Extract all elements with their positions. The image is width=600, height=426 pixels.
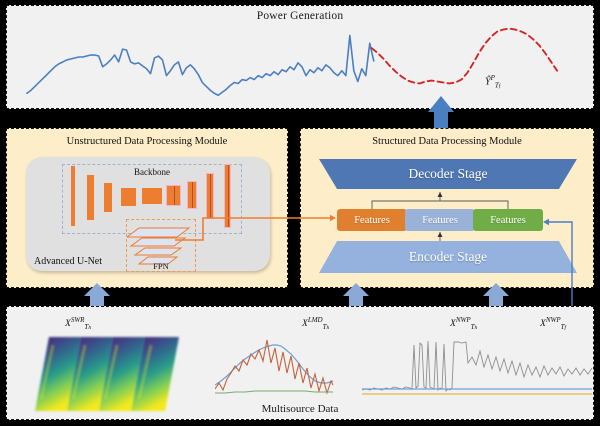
input-label-lmd: XLMDTh	[302, 316, 329, 331]
yhat-sub2: f	[499, 83, 501, 89]
backbone-block-1	[71, 166, 75, 226]
advanced-unet-card: Backbone FPN Advanced U-Net	[26, 157, 270, 271]
advanced-unet-label: Advanced U-Net	[34, 256, 102, 267]
unstructured-data-processing-module: Unstructured Data Processing Module Back…	[6, 128, 288, 288]
backbone-block-3	[104, 183, 112, 212]
fpn-box: FPN	[126, 219, 196, 272]
xnwph-sup: NWP	[456, 316, 471, 324]
swr-heatmap-stack	[29, 329, 209, 417]
backbone-block-8	[206, 173, 214, 219]
xnwph-sub2: h	[475, 325, 478, 331]
backbone-block-2	[87, 175, 94, 220]
backbone-block-6	[166, 185, 181, 206]
multisource-data-panel: Multisource Data XSWRTh XLMDTh XNWPTh XN…	[6, 306, 594, 420]
xlmd-sub2: h	[327, 325, 330, 331]
lmd-line-plot	[215, 333, 335, 399]
power-generation-panel: Power Generation ŶPTf	[6, 5, 594, 109]
backbone-block-9	[224, 164, 231, 228]
history-series	[27, 35, 374, 95]
xswr-sup: SWR	[71, 316, 85, 324]
xlmd-sup: LMD	[308, 316, 323, 324]
backbone-block-7	[187, 181, 197, 209]
prediction-label: ŶPTf	[485, 74, 500, 89]
unstructured-module-title: Unstructured Data Processing Module	[7, 136, 287, 147]
backbone-block-4	[121, 188, 136, 206]
input-label-nwp-h: XNWPTh	[450, 316, 477, 331]
fpn-label: FPN	[127, 261, 195, 271]
xnwpf-sub2: f	[565, 325, 567, 331]
forecast-series	[372, 29, 557, 84]
nwp-line-plot	[362, 333, 592, 399]
structured-data-processing-module: Structured Data Processing Module Decode…	[300, 128, 594, 288]
xnwpf-sup: NWP	[546, 316, 561, 324]
structured-internal-connectors	[301, 129, 595, 289]
power-generation-chart	[7, 6, 593, 108]
input-label-nwp-f: XNWPTf	[540, 316, 566, 331]
backbone-block-5	[142, 188, 162, 204]
